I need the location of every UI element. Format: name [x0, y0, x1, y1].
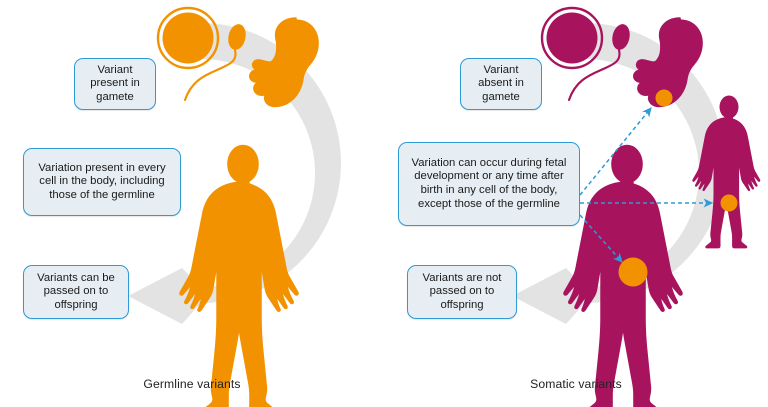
caption-somatic: Somatic variants	[384, 377, 768, 391]
callout-text: Variation can occur during fetal develop…	[405, 157, 573, 211]
callout-variation-every-cell: Variation present in every cell in the b…	[23, 148, 181, 216]
adult-body-icon	[179, 145, 299, 407]
callout-not-passed-on: Variants are not passed on to offspring	[407, 265, 517, 319]
callout-text: Variant absent in gamete	[467, 64, 535, 105]
callout-text: Variants can be passed on to offspring	[30, 272, 122, 313]
panel-somatic: Variant absent in gamete Variation can o…	[384, 0, 768, 407]
callout-passed-on: Variants can be passed on to offspring	[23, 265, 129, 319]
diagram-canvas: Variant present in gamete Variation pres…	[0, 0, 768, 407]
callout-text: Variant present in gamete	[81, 64, 149, 105]
caption-germline: Germline variants	[0, 377, 384, 391]
callout-text: Variation present in every cell in the b…	[30, 162, 174, 203]
egg-cell-icon	[542, 8, 602, 68]
callout-variant-absent-gamete: Variant absent in gamete	[460, 58, 542, 110]
callout-text: Variants are not passed on to offspring	[414, 272, 510, 313]
panel-germline: Variant present in gamete Variation pres…	[0, 0, 384, 407]
egg-cell-icon	[158, 8, 218, 68]
callout-variation-can-occur: Variation can occur during fetal develop…	[398, 142, 580, 226]
callout-variant-in-gamete: Variant present in gamete	[74, 58, 156, 110]
